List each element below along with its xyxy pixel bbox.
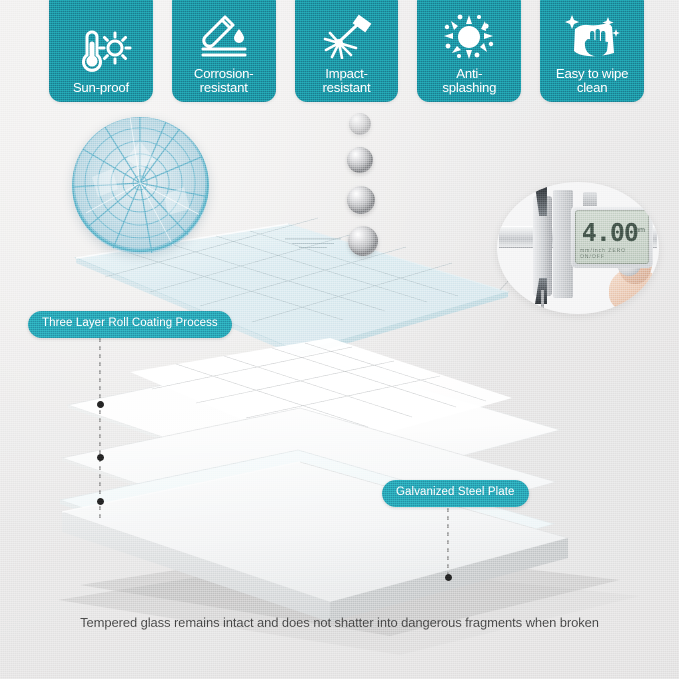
- feature-badge-anti-splashing[interactable]: Anti- splashing: [417, 0, 521, 102]
- stack-cast-shadow: [58, 560, 640, 655]
- coating-layer-3: [60, 450, 554, 592]
- caliper-slider: [553, 190, 573, 298]
- caliper-measurement-unit: mm: [633, 227, 645, 234]
- feature-badge-sun-proof[interactable]: Sun-proof: [49, 0, 153, 102]
- planner-grid-lines: [152, 343, 486, 427]
- feature-badge-label: Corrosion- resistant: [194, 67, 254, 94]
- feature-badge-easy-to-wipe-clean[interactable]: Easy to wipe clean: [540, 0, 644, 102]
- coating-layer-dot-2: [97, 454, 104, 461]
- caliper-measurement-value: 4.00: [576, 220, 638, 245]
- badge-label-line2: splashing: [442, 81, 496, 94]
- feature-badge-impact-resistant[interactable]: Impact- resistant: [295, 0, 399, 102]
- coating-layer-dot-3: [97, 498, 104, 505]
- caliper-body: 4.00 mm mm/inch ZERO ON/OFF: [497, 182, 659, 314]
- feature-badge-row: Sun-proof Corrosion- resistant: [49, 0, 644, 102]
- impact-test-ball-1: [349, 113, 371, 135]
- caliper-depth-rod: [541, 290, 544, 314]
- caliper-display-housing: 4.00 mm mm/inch ZERO ON/OFF: [571, 206, 653, 268]
- feature-badge-label: Easy to wipe clean: [556, 67, 628, 94]
- badge-label-line2: clean: [556, 81, 628, 94]
- shattered-tempered-glass-closeup: [72, 117, 209, 254]
- badge-label-line2: resistant: [322, 81, 370, 94]
- caliper-lcd: 4.00 mm mm/inch ZERO ON/OFF: [575, 210, 649, 264]
- splash-icon: [441, 8, 497, 64]
- coating-layer-1: [68, 355, 560, 495]
- impact-test-ball-3: [347, 186, 375, 214]
- feature-badge-label: Anti- splashing: [442, 67, 496, 94]
- infographic-canvas: Sun-proof Corrosion- resistant: [0, 0, 679, 679]
- test-tube-drop-icon: [195, 8, 253, 64]
- coating-layer-2: [62, 408, 556, 549]
- digital-caliper-thickness-closeup: 4.00 mm mm/inch ZERO ON/OFF: [497, 182, 659, 314]
- badge-label-line1: Easy to wipe: [556, 66, 628, 81]
- printed-board-face: [130, 338, 512, 452]
- impact-test-ball-2: [347, 147, 373, 173]
- caliper-fixed-jaw: [533, 196, 552, 296]
- thermometer-sun-icon: [70, 22, 132, 78]
- coating-layer-dot-1: [97, 401, 104, 408]
- feature-badge-label: Impact- resistant: [322, 67, 370, 94]
- bottom-caption: Tempered glass remains intact and does n…: [0, 614, 679, 632]
- badge-label-line2: resistant: [194, 81, 254, 94]
- feature-badge-corrosion-resistant[interactable]: Corrosion- resistant: [172, 0, 276, 102]
- wipe-hand-icon: [563, 8, 621, 64]
- steel-plate-dot: [445, 574, 452, 581]
- impact-test-ball-4: [348, 226, 378, 256]
- callout-three-layer-roll-coating-process[interactable]: Three Layer Roll Coating Process: [28, 311, 232, 338]
- badge-label-line1: Corrosion-: [194, 66, 254, 81]
- hammer-impact-icon: [317, 8, 375, 64]
- badge-label-line1: Anti-: [456, 66, 482, 81]
- callout-galvanized-steel-plate[interactable]: Galvanized Steel Plate: [382, 480, 529, 507]
- caliper-button-labels: mm/inch ZERO ON/OFF: [580, 248, 648, 260]
- badge-label-line1: Sun-proof: [73, 80, 129, 95]
- feature-badge-label: Sun-proof: [73, 81, 129, 94]
- badge-label-line1: Impact-: [325, 66, 368, 81]
